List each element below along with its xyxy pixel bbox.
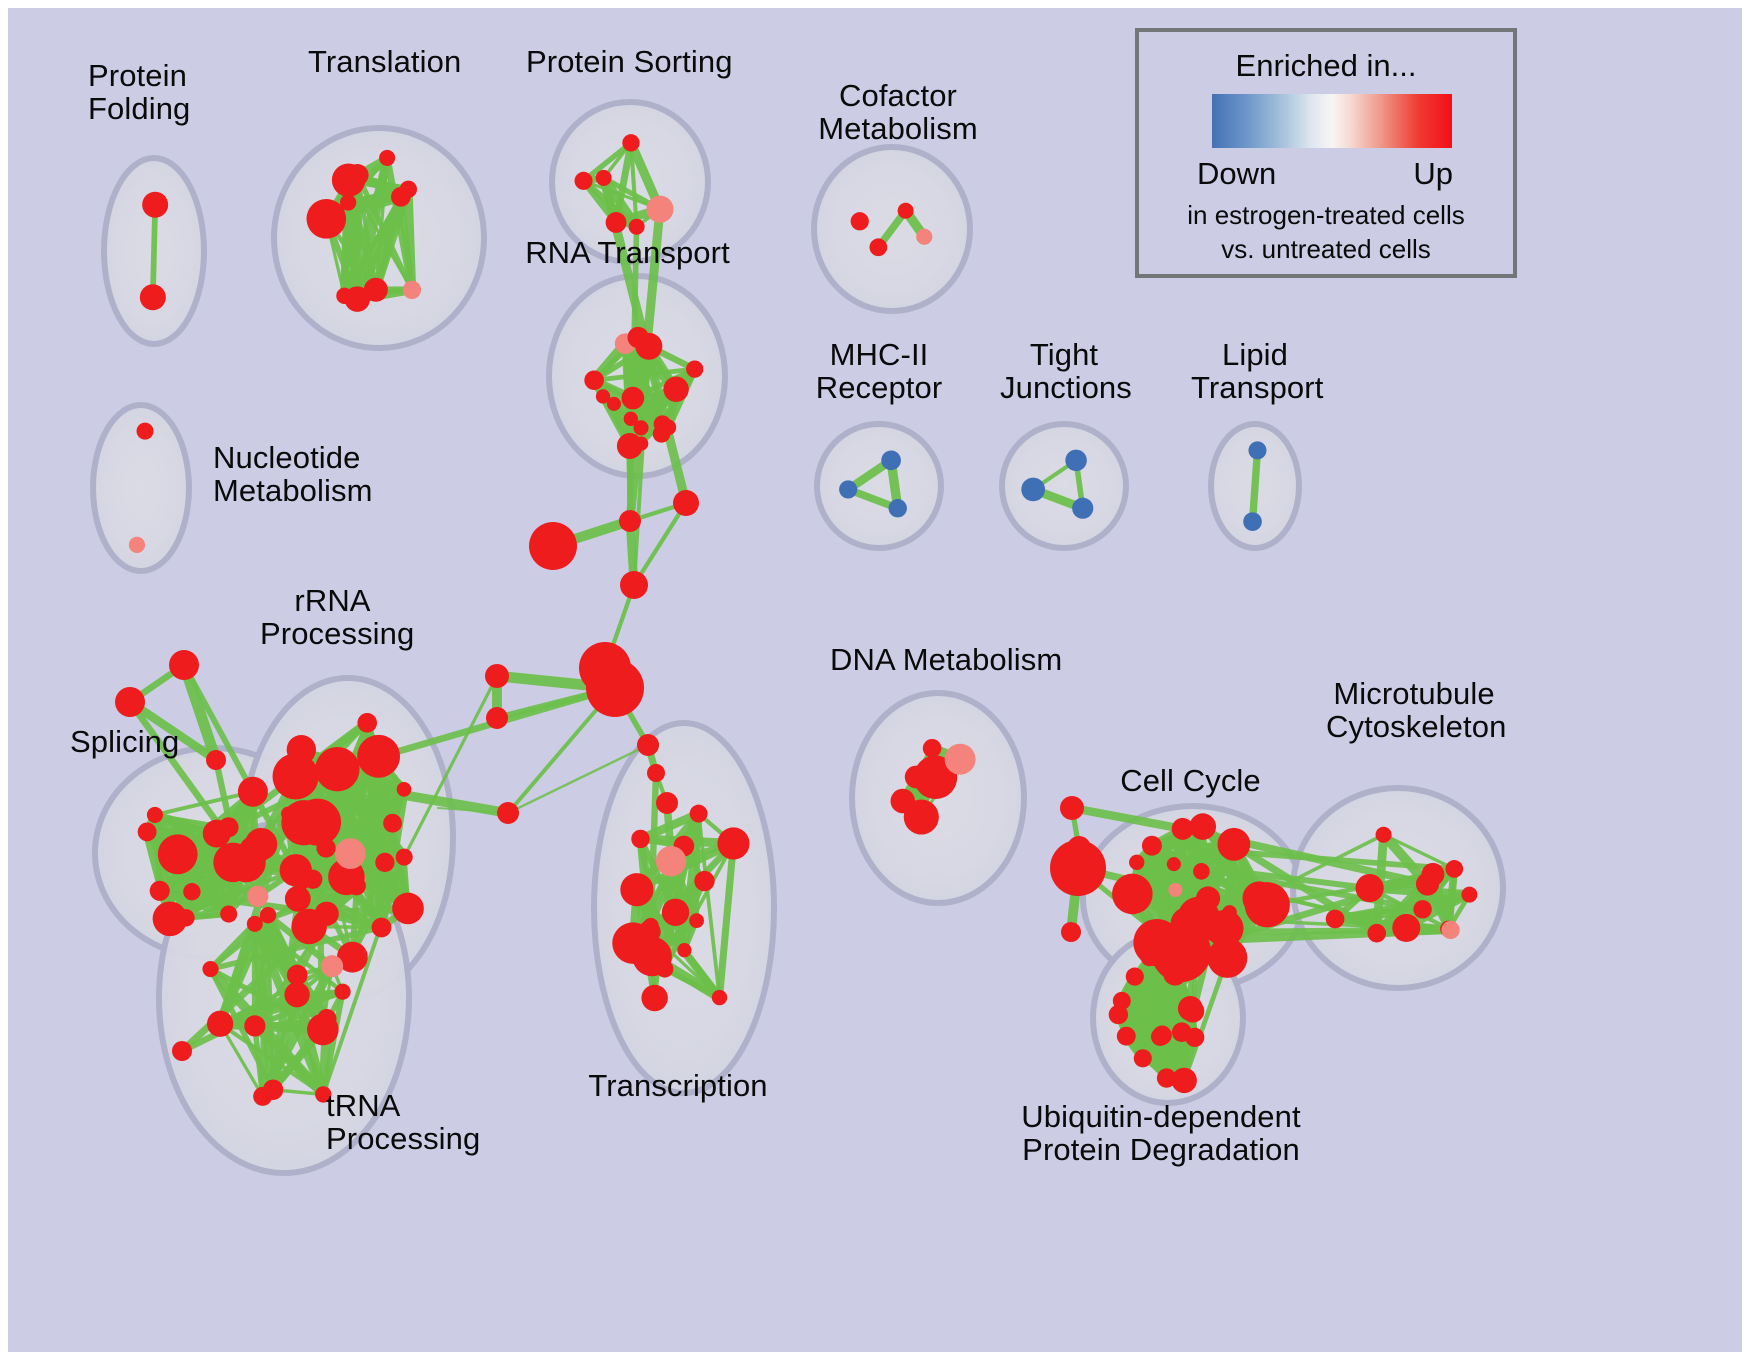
- network-node: [207, 1011, 233, 1037]
- legend-title: Enriched in...: [1139, 48, 1513, 84]
- network-node: [1126, 968, 1144, 986]
- network-node: [486, 707, 508, 729]
- network-node: [317, 1009, 336, 1028]
- network-node: [1171, 1068, 1196, 1093]
- network-node: [372, 918, 392, 938]
- cluster-label-translation: Translation: [308, 46, 458, 79]
- network-node: [619, 510, 641, 532]
- cluster-label-nucleotide-metabolism: Nucleotide Metabolism: [213, 442, 373, 508]
- network-node: [1129, 855, 1144, 870]
- network-node: [147, 807, 163, 823]
- network-node: [945, 744, 976, 775]
- network-node: [1326, 910, 1345, 929]
- network-node: [1152, 1026, 1171, 1045]
- network-node: [316, 838, 335, 857]
- network-node: [1178, 996, 1203, 1021]
- network-node: [1142, 836, 1162, 856]
- network-node: [1050, 840, 1106, 896]
- network-node: [839, 480, 857, 498]
- network-node: [1356, 874, 1384, 902]
- network-node: [1413, 900, 1431, 918]
- cluster-ellipse-tight-junctions: [1002, 424, 1126, 548]
- network-plot-area: Protein FoldingTranslationProtein Sortin…: [8, 8, 1742, 1352]
- network-node: [321, 955, 343, 977]
- network-node: [396, 849, 413, 866]
- network-node: [1461, 887, 1477, 903]
- network-node: [375, 853, 394, 872]
- network-node: [1376, 827, 1392, 843]
- network-node: [1172, 818, 1194, 840]
- network-node: [596, 170, 612, 186]
- figure-canvas: Protein FoldingTranslationProtein Sortin…: [0, 0, 1750, 1360]
- network-node: [315, 902, 339, 926]
- network-node: [1245, 882, 1290, 927]
- network-node: [1167, 857, 1181, 871]
- network-node: [392, 893, 424, 925]
- network-node: [646, 196, 673, 223]
- network-node: [203, 820, 231, 848]
- network-node: [631, 830, 649, 848]
- network-node: [1109, 1005, 1128, 1024]
- network-node: [153, 901, 188, 936]
- network-node: [620, 571, 648, 599]
- network-node: [617, 433, 643, 459]
- network-node: [357, 713, 377, 733]
- network-node: [142, 192, 168, 218]
- network-node: [1207, 938, 1247, 978]
- network-node: [403, 281, 421, 299]
- network-node: [891, 789, 916, 814]
- network-node: [1112, 874, 1153, 915]
- network-node: [712, 990, 727, 1005]
- network-node: [627, 327, 648, 348]
- network-node: [306, 199, 346, 239]
- cluster-label-splicing: Splicing: [70, 726, 179, 759]
- network-node: [633, 420, 648, 435]
- network-node: [690, 805, 708, 823]
- network-node: [158, 834, 198, 874]
- network-node: [673, 490, 699, 516]
- network-node: [717, 827, 749, 859]
- network-node: [202, 961, 218, 977]
- network-node: [1065, 450, 1087, 472]
- network-node: [620, 873, 653, 906]
- network-node: [1416, 873, 1439, 896]
- network-node: [607, 397, 621, 411]
- network-node: [898, 203, 914, 219]
- network-node: [1243, 512, 1262, 531]
- network-node: [606, 212, 627, 233]
- legend-panel: Enriched in... Down Up in estrogen-treat…: [1135, 28, 1517, 278]
- network-node: [656, 792, 678, 814]
- network-node: [584, 370, 604, 390]
- network-node: [586, 659, 644, 717]
- network-node: [245, 828, 277, 860]
- network-node: [529, 522, 577, 570]
- cluster-label-mhc-ii-receptor: MHC-II Receptor: [813, 339, 945, 405]
- network-node: [663, 377, 688, 402]
- legend-low-label: Down: [1197, 156, 1276, 192]
- network-node: [346, 164, 368, 186]
- network-node: [1151, 922, 1211, 982]
- network-node: [129, 537, 145, 553]
- network-node: [1441, 921, 1459, 939]
- cluster-label-ubiquitin-protein-degradation: Ubiquitin-dependent Protein Degradation: [1006, 1101, 1316, 1167]
- cluster-label-rrna-processing: rRNA Processing: [260, 585, 405, 651]
- network-node: [1193, 863, 1210, 880]
- network-node: [916, 229, 932, 245]
- network-node: [397, 782, 412, 797]
- network-node: [1392, 914, 1420, 942]
- cluster-label-dna-metabolism: DNA Metabolism: [830, 644, 1060, 677]
- network-edge: [153, 205, 155, 298]
- network-node: [689, 913, 704, 928]
- network-node: [1185, 1028, 1204, 1047]
- network-node: [612, 922, 653, 963]
- network-node: [370, 760, 384, 774]
- network-node: [677, 943, 691, 957]
- network-node: [347, 876, 366, 895]
- cluster-label-lipid-transport: Lipid Transport: [1191, 339, 1319, 405]
- network-node: [220, 905, 237, 922]
- cluster-label-cell-cycle: Cell Cycle: [1118, 765, 1263, 798]
- network-node: [150, 881, 170, 901]
- network-node: [238, 777, 268, 807]
- network-node: [115, 687, 145, 717]
- cluster-ellipse-mhc-ii-receptor: [817, 424, 941, 548]
- network-node: [138, 822, 157, 841]
- network-node: [379, 150, 395, 166]
- network-node: [1134, 1049, 1152, 1067]
- network-node: [881, 451, 901, 471]
- network-node: [1189, 813, 1216, 840]
- network-node: [1072, 498, 1093, 519]
- network-node: [294, 799, 341, 846]
- legend-caption-line2: vs. untreated cells: [1139, 234, 1513, 265]
- network-node: [244, 1015, 265, 1036]
- cluster-label-microtubule-cytoskeleton: Microtubule Cytoskeleton: [1326, 678, 1502, 744]
- network-node: [647, 764, 665, 782]
- network-node: [889, 499, 907, 517]
- cluster-label-protein-folding: Protein Folding: [88, 60, 190, 126]
- network-node: [169, 650, 199, 680]
- network-node: [247, 916, 263, 932]
- network-node: [263, 1080, 283, 1100]
- network-node: [1248, 441, 1266, 459]
- network-node: [629, 219, 645, 235]
- network-node: [1061, 922, 1081, 942]
- network-node: [1217, 828, 1250, 861]
- network-node: [383, 814, 402, 833]
- network-node: [923, 739, 942, 758]
- network-node: [686, 360, 703, 377]
- cluster-label-cofactor-metabolism: Cofactor Metabolism: [817, 80, 979, 146]
- network-node: [137, 423, 154, 440]
- network-node: [285, 886, 311, 912]
- network-node: [1021, 478, 1045, 502]
- network-node: [335, 984, 351, 1000]
- network-node: [247, 886, 268, 907]
- network-node: [622, 387, 645, 410]
- network-node: [340, 194, 356, 210]
- network-node: [660, 419, 676, 435]
- cluster-label-transcription: Transcription: [588, 1070, 768, 1103]
- network-node: [656, 846, 686, 876]
- network-node: [1060, 796, 1084, 820]
- network-node: [497, 802, 519, 824]
- legend-high-label: Up: [1413, 156, 1453, 192]
- network-node: [694, 871, 714, 891]
- network-node: [1168, 883, 1182, 897]
- network-node: [851, 212, 869, 230]
- network-node: [172, 1041, 192, 1061]
- cluster-label-tight-junctions: Tight Junctions: [1000, 339, 1128, 405]
- legend-caption-line1: in estrogen-treated cells: [1139, 200, 1513, 231]
- network-node: [869, 238, 887, 256]
- network-node: [273, 753, 319, 799]
- network-node: [662, 899, 689, 926]
- network-node: [637, 734, 659, 756]
- cluster-label-trna-processing: tRNA Processing: [326, 1090, 480, 1156]
- network-node: [391, 187, 411, 207]
- network-node: [575, 172, 593, 190]
- network-node: [1117, 1027, 1136, 1046]
- network-node: [485, 664, 509, 688]
- cluster-label-protein-sorting: Protein Sorting: [526, 46, 726, 79]
- network-node: [622, 134, 639, 151]
- network-node: [315, 747, 359, 791]
- network-node: [335, 838, 366, 869]
- network-node: [284, 982, 309, 1007]
- network-node: [641, 985, 667, 1011]
- network-node: [206, 750, 226, 770]
- network-node: [140, 284, 166, 310]
- network-node: [281, 807, 295, 821]
- network-node: [1367, 924, 1386, 943]
- network-node: [183, 883, 200, 900]
- network-node: [336, 288, 352, 304]
- legend-colorbar: [1212, 94, 1452, 148]
- network-node: [1445, 860, 1463, 878]
- network-edge: [1253, 450, 1258, 521]
- cluster-label-rna-transport: RNA Transport: [525, 237, 730, 270]
